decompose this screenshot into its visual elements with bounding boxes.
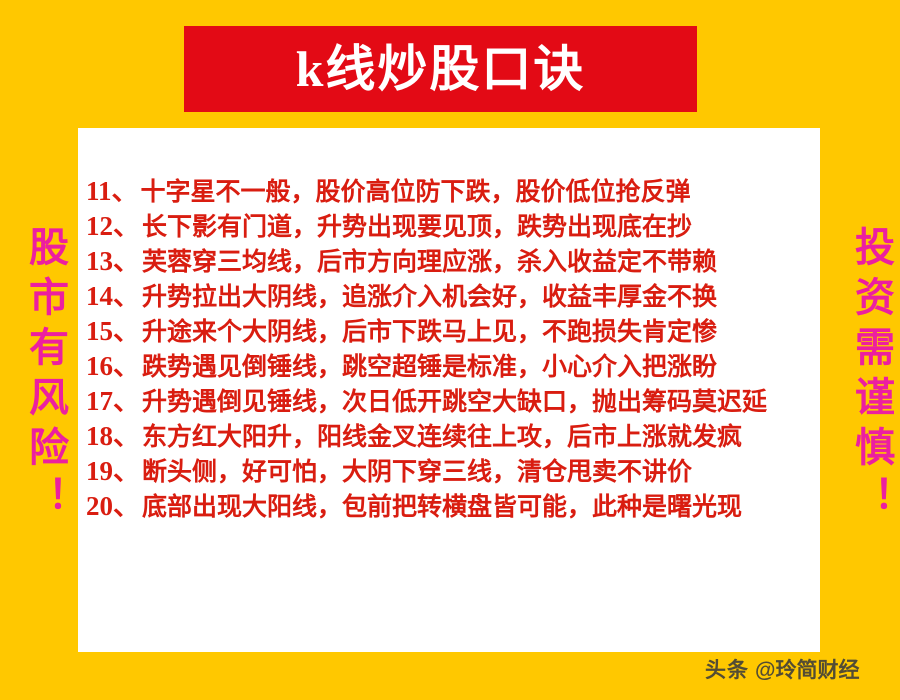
verse-text: 升势拉出大阴线，追涨介入机会好，收益丰厚金不换 (140, 280, 717, 315)
verse-text: 芙蓉穿三均线，后市方向理应涨，杀入收益定不带赖 (140, 245, 717, 280)
verse-text: 升途来个大阴线，后市下跌马上见，不跑损失肯定惨 (140, 315, 717, 350)
verse-text: 断头侧，好可怕，大阴下穿三线，清仓甩卖不讲价 (140, 455, 692, 490)
verse-index: 18、 (83, 419, 140, 454)
verse-row: 16、 跌势遇见倒锤线，跳空超锤是标准，小心介入把涨盼 (83, 349, 820, 384)
content-panel: 11、 十字星不一般，股价高位防下跌，股价低位抢反弹 12、 长下影有门道，升势… (78, 128, 820, 652)
verse-row: 12、 长下影有门道，升势出现要见顶，跌势出现底在抄 (83, 209, 820, 244)
watermark-handle: @玲简财经 (755, 657, 859, 685)
slogan-right: 投资需谨慎！ (838, 196, 896, 556)
verse-text: 升势遇倒见锤线，次日低开跳空大缺口，抛出筹码莫迟延 (140, 385, 767, 420)
verse-row: 19、 断头侧，好可怕，大阴下穿三线，清仓甩卖不讲价 (83, 454, 820, 489)
slogan-left: 股市有风险！ (12, 196, 70, 556)
verse-text: 十字星不一般，股价高位防下跌，股价低位抢反弹 (139, 175, 691, 210)
verse-row: 20、 底部出现大阳线，包前把转横盘皆可能，此种是曙光现 (83, 489, 820, 524)
verse-index: 14、 (83, 279, 140, 314)
verse-text: 东方红大阳升，阳线金叉连续往上攻，后市上涨就发疯 (140, 420, 742, 455)
verse-index: 20、 (83, 489, 140, 524)
verse-index: 13、 (83, 244, 140, 279)
verse-text: 长下影有门道，升势出现要见顶，跌势出现底在抄 (140, 210, 692, 245)
page-title: k线炒股口诀 (296, 44, 586, 94)
verse-list: 11、 十字星不一般，股价高位防下跌，股价低位抢反弹 12、 长下影有门道，升势… (83, 174, 820, 524)
verse-row: 14、 升势拉出大阴线，追涨介入机会好，收益丰厚金不换 (83, 279, 820, 314)
verse-row: 15、 升途来个大阴线，后市下跌马上见，不跑损失肯定惨 (83, 314, 820, 349)
verse-index: 19、 (83, 454, 140, 489)
verse-index: 11、 (83, 174, 139, 209)
verse-index: 17、 (83, 384, 140, 419)
verse-text: 跌势遇见倒锤线，跳空超锤是标准，小心介入把涨盼 (140, 350, 717, 385)
title-banner: k线炒股口诀 (184, 26, 697, 112)
verse-row: 13、 芙蓉穿三均线，后市方向理应涨，杀入收益定不带赖 (83, 244, 820, 279)
watermark-brand: 头条 (705, 657, 749, 685)
verse-row: 17、 升势遇倒见锤线，次日低开跳空大缺口，抛出筹码莫迟延 (83, 384, 820, 419)
watermark: 头条 @玲简财经 (705, 657, 859, 685)
verse-row: 18、 东方红大阳升，阳线金叉连续往上攻，后市上涨就发疯 (83, 419, 820, 454)
verse-row: 11、 十字星不一般，股价高位防下跌，股价低位抢反弹 (83, 174, 820, 209)
verse-index: 16、 (83, 349, 140, 384)
verse-index: 15、 (83, 314, 140, 349)
verse-text: 底部出现大阳线，包前把转横盘皆可能，此种是曙光现 (140, 490, 742, 525)
verse-index: 12、 (83, 209, 140, 244)
poster-canvas: k线炒股口诀 11、 十字星不一般，股价高位防下跌，股价低位抢反弹 12、 长下… (0, 0, 900, 700)
